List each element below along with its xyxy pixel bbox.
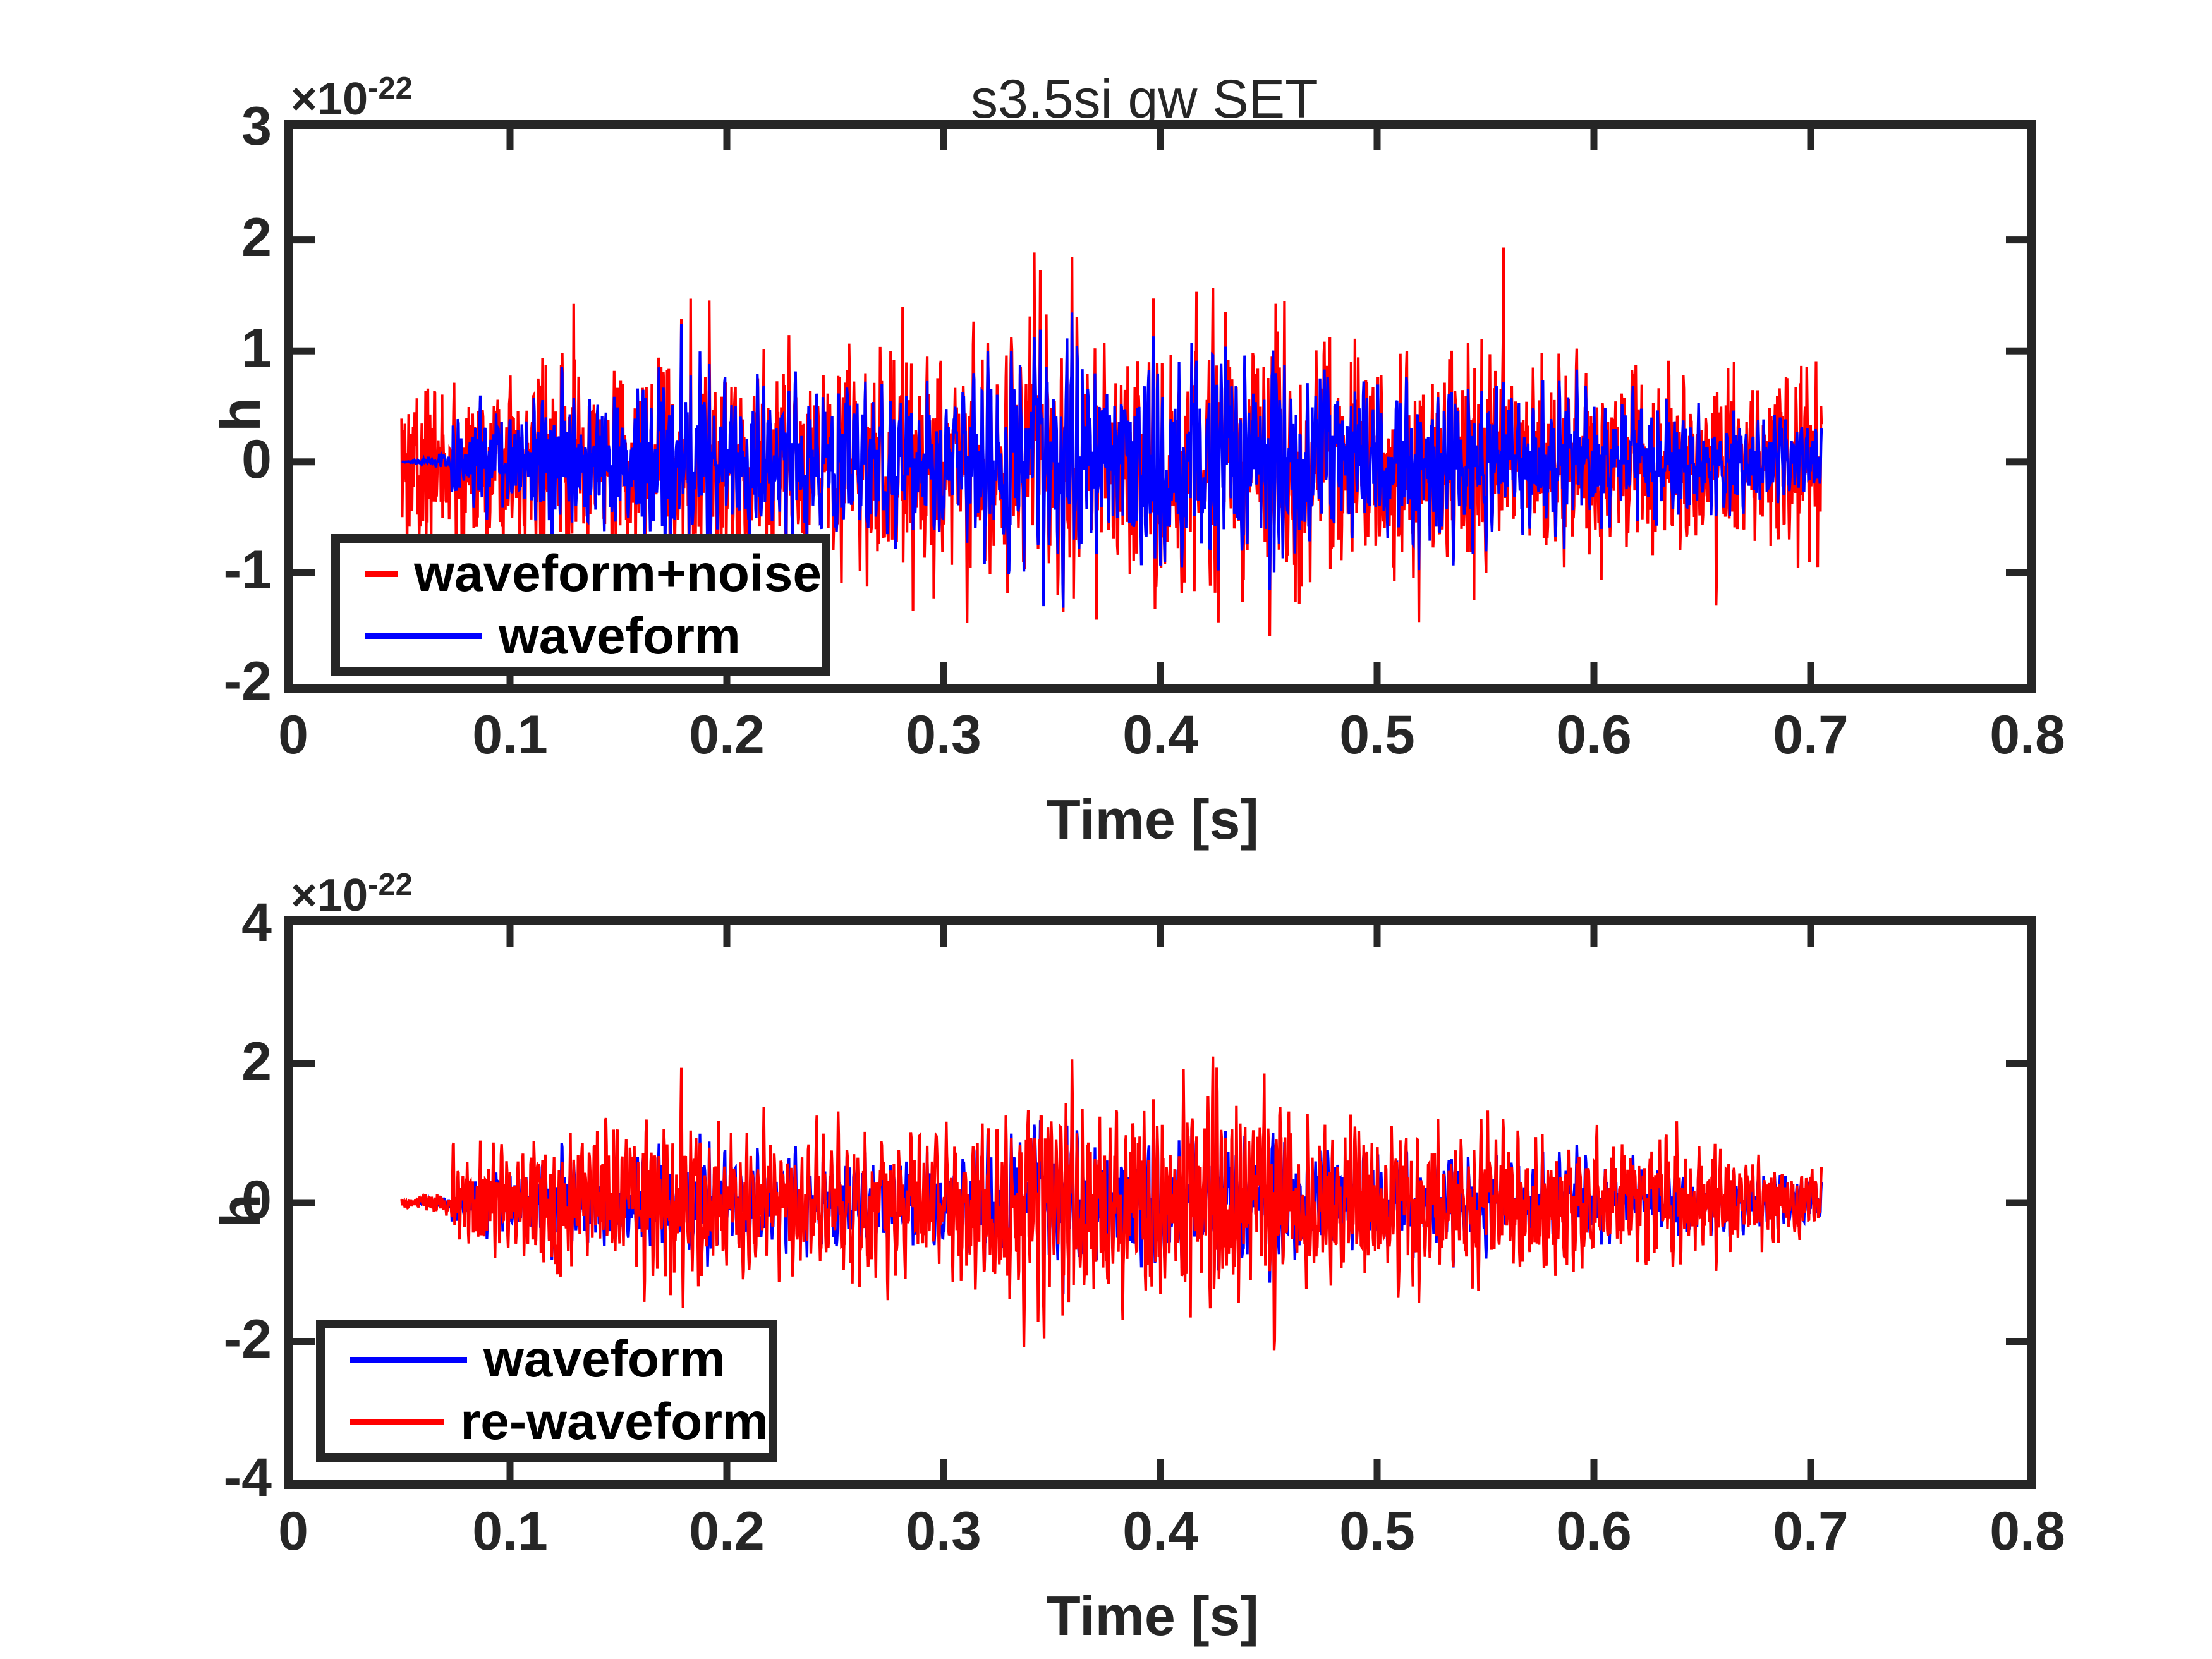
x-tick-label: 0 (224, 1504, 363, 1559)
x-tick-label: 0.4 (1091, 708, 1230, 762)
legend-label: re-waveform (460, 1396, 769, 1448)
y-tick-label: 0 (164, 432, 272, 487)
x-tick-label: 0.8 (1958, 708, 2097, 762)
legend-label: waveform+noise (414, 548, 822, 600)
legend-top[interactable]: waveform+noisewaveform (331, 534, 830, 676)
x-tick-label: 0.5 (1308, 708, 1447, 762)
exponent-mantissa: ×10 (291, 74, 368, 125)
y-axis-exponent-top: ×10-22 (291, 71, 413, 125)
legend-entry[interactable]: re-waveform (325, 1391, 769, 1454)
x-tick-label: 0.3 (874, 1504, 1013, 1559)
x-tick-label: 0.6 (1524, 1504, 1663, 1559)
x-tick-label: 0.1 (441, 708, 580, 762)
legend-entry[interactable]: waveform+noise (340, 543, 822, 605)
legend-line-swatch (365, 633, 482, 639)
series-re-waveform (402, 1057, 1822, 1351)
y-tick-label: 2 (164, 210, 272, 265)
legend-line-swatch (350, 1419, 444, 1425)
x-tick-label: 0.3 (874, 708, 1013, 762)
x-tick-label: 0.2 (657, 708, 796, 762)
legend-label: waveform (499, 611, 741, 662)
x-tick-label: 0.4 (1091, 1504, 1230, 1559)
legend-line-swatch (350, 1357, 467, 1363)
y-tick-label: 4 (164, 896, 272, 950)
x-tick-label: 0.7 (1741, 1504, 1880, 1559)
exponent-power: -22 (368, 71, 413, 106)
x-tick-label: 0.8 (1958, 1504, 2097, 1559)
y-tick-label: 2 (164, 1035, 272, 1089)
x-tick-label: 0.5 (1308, 1504, 1447, 1559)
x-axis-label-top: Time [s] (1047, 787, 1259, 852)
y-tick-label: -2 (164, 1312, 272, 1366)
x-tick-label: 0 (224, 708, 363, 762)
x-tick-label: 0.7 (1741, 708, 1880, 762)
y-axis-exponent-bottom: ×10-22 (291, 867, 413, 921)
figure-canvas: s3.5si gw SET ×10-22 h 3210-1-2 00.10.20… (0, 0, 2212, 1659)
exponent-power: -22 (368, 868, 413, 902)
legend-entry[interactable]: waveform (325, 1328, 769, 1391)
x-tick-label: 0.2 (657, 1504, 796, 1559)
y-tick-label: -4 (164, 1450, 272, 1505)
exponent-mantissa: ×10 (291, 870, 368, 921)
legend-bottom[interactable]: waveformre-waveform (316, 1320, 777, 1462)
legend-entry[interactable]: waveform (340, 605, 822, 668)
legend-label: waveform (483, 1334, 726, 1385)
y-axis-label-top: h (209, 398, 273, 432)
x-tick-label: 0.6 (1524, 708, 1663, 762)
legend-line-swatch (365, 571, 398, 577)
y-tick-label: 0 (164, 1173, 272, 1227)
x-tick-label: 0.1 (441, 1504, 580, 1559)
y-tick-label: 1 (164, 321, 272, 375)
x-axis-label-bottom: Time [s] (1047, 1584, 1259, 1648)
y-tick-label: -1 (164, 543, 272, 597)
y-tick-label: -2 (164, 654, 272, 708)
y-tick-label: 3 (164, 99, 272, 154)
